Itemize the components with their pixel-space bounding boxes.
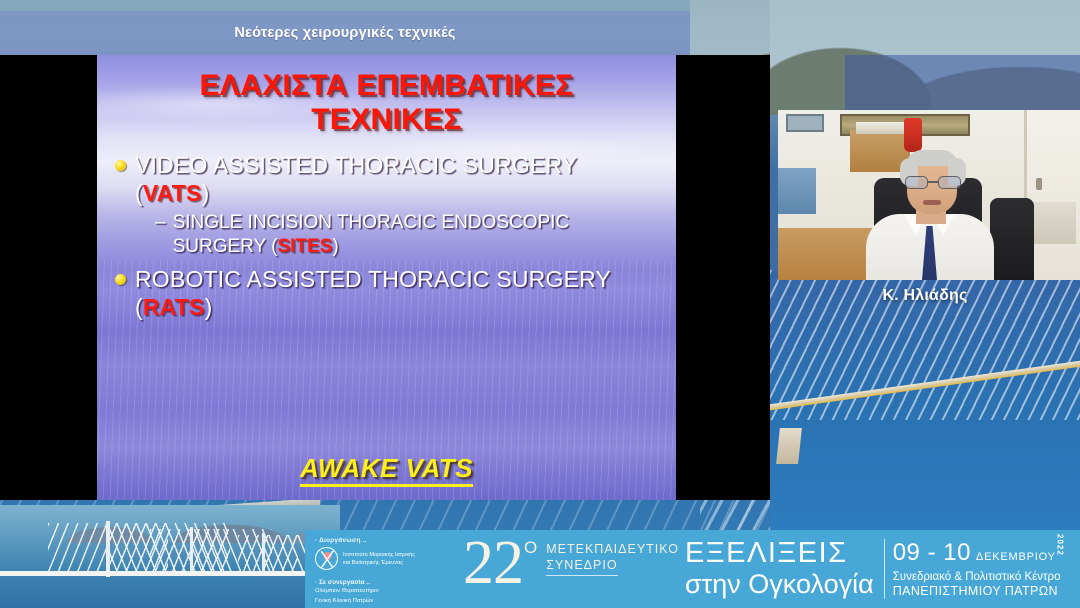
office-desk-front xyxy=(778,228,873,280)
office-shelf xyxy=(1028,202,1076,244)
bullet-acronym: VATS xyxy=(143,180,202,206)
sub-bullet-text-before: SINGLE INCISION THORACIC ENDOSCOPIC SURG… xyxy=(173,212,570,257)
collaboration-label: · Σε συνεργασία .. xyxy=(315,579,463,586)
organizer-name-line-2: και Βιοϊατρικής Έρευνας xyxy=(343,559,415,567)
office-chair-right xyxy=(990,198,1034,280)
bullet-dot-icon xyxy=(115,274,126,285)
webcam-feed[interactable] xyxy=(778,110,1080,280)
header-bar: Νεότερες χειρουργικές τεχνικές xyxy=(0,11,690,55)
institute-logo-icon xyxy=(315,547,338,570)
bullet-acronym: RATS xyxy=(143,294,205,320)
banner-date-venue: 09 - 10 ΔΕΚΕΜΒΡΙΟΥ 2022 Συνεδριακό & Πολ… xyxy=(893,530,1061,608)
bullet-text: VIDEO ASSISTED THORACIC SURGERY (VATS) xyxy=(135,151,635,207)
office-object-left xyxy=(778,168,816,214)
edition-number: 22 xyxy=(463,532,523,594)
video-overlay-bar xyxy=(845,55,1080,110)
door-knob xyxy=(1036,178,1042,190)
bridge-pylon-3 xyxy=(262,533,265,575)
bridge-pylon-2 xyxy=(190,527,193,575)
collaborator-line-1: Ολύμπιον Θεραπευτήριο xyxy=(315,587,463,596)
slide-title: ΕΛΑΧΙΣΤΑ ΕΠΕΜΒΑΤΙΚΕΣ ΤΕΧΝΙΚΕΣ xyxy=(113,69,660,137)
organizer-row: Ινστιτούτο Μοριακής Ιατρικής και Βιοϊατρ… xyxy=(315,547,463,570)
bullet-text: ROBOTIC ASSISTED THORACIC SURGERY (RATS) xyxy=(135,265,635,321)
wall-picture-small xyxy=(786,114,824,132)
venue-line-1: Συνεδριακό & Πολιτιστικό Κέντρο xyxy=(893,571,1061,583)
organizer-name-line-1: Ινστιτούτο Μοριακής Ιατρικής xyxy=(343,551,415,559)
slide-canvas: ΕΛΑΧΙΣΤΑ ΕΠΕΜΒΑΤΙΚΕΣ ΤΕΧΝΙΚΕΣ VIDEO ASSI… xyxy=(97,55,676,500)
desk-decoration xyxy=(904,118,922,152)
bullet-text-after: ) xyxy=(205,294,213,320)
page-title: Νεότερες χειρουργικές τεχνικές xyxy=(234,25,455,41)
bullet-item-rats: ROBOTIC ASSISTED THORACIC SURGERY (RATS) xyxy=(115,265,676,321)
organizer-name: Ινστιτούτο Μοριακής Ιατρικής και Βιοϊατρ… xyxy=(343,551,415,567)
eyeglasses-icon xyxy=(904,176,962,189)
banner-organizers: · Διοργάνωση .. Ινστιτούτο Μοριακής Ιατρ… xyxy=(305,530,463,608)
bridge-roadway xyxy=(0,571,340,576)
banner-divider xyxy=(884,539,885,599)
video-bridge-pier xyxy=(776,428,802,464)
lens-bridge xyxy=(928,181,938,183)
lens-left xyxy=(905,176,928,189)
slide-bullet-list: VIDEO ASSISTED THORACIC SURGERY (VATS) –… xyxy=(115,151,676,321)
congress-year: 2022 xyxy=(1056,534,1065,556)
slide-highlight-text: AWAKE VATS xyxy=(300,453,473,487)
banner-edition-number: 22 Ο xyxy=(463,530,537,608)
bridge-photo-strip xyxy=(0,505,340,608)
congress-dates: 09 - 10 xyxy=(893,539,971,567)
speaker-mouth xyxy=(923,200,941,205)
lens-right xyxy=(938,176,961,189)
bullet-item-vats: VIDEO ASSISTED THORACIC SURGERY (VATS) xyxy=(115,151,676,207)
congress-type-line-2: ΣΥΝΕΔΡΙΟ xyxy=(546,558,617,576)
sub-bullet-text-after: ) xyxy=(332,236,338,257)
speaker-name-label: Κ. Ηλιάδης xyxy=(770,287,1080,305)
slide-title-line-1: ΕΛΑΧΙΣΤΑ ΕΠΕΜΒΑΤΙΚΕΣ xyxy=(113,69,660,103)
organizer-label: · Διοργάνωση .. xyxy=(315,537,463,544)
dash-icon: – xyxy=(155,211,166,235)
slide-highlight: AWAKE VATS xyxy=(97,453,676,484)
bullet-dot-icon xyxy=(115,160,126,171)
ordinal-degree-icon: Ο xyxy=(524,538,537,558)
desk-books xyxy=(856,122,904,134)
congress-title-line-1: ΕΞΕΛΙΞΕΙΣ xyxy=(685,538,874,569)
congress-title-line-2: στην Ογκολογία xyxy=(685,569,874,599)
banner-congress-title: ΕΞΕΛΙΞΕΙΣ στην Ογκολογία xyxy=(685,530,874,608)
sub-bullet-acronym: SITES xyxy=(277,236,332,257)
congress-type-line-1: ΜΕΤΕΚΠΑΙΔΕΥΤΙΚΟ xyxy=(546,542,679,556)
collaborator-line-2: Γενική Κλινική Πατρών xyxy=(315,597,463,606)
bridge-pylon-1 xyxy=(106,521,110,577)
congress-month: ΔΕΚΕΜΒΡΙΟΥ xyxy=(976,551,1056,563)
date-row: 09 - 10 ΔΕΚΕΜΒΡΙΟΥ xyxy=(893,539,1061,567)
congress-banner: · Διοργάνωση .. Ινστιτούτο Μοριακής Ιατρ… xyxy=(305,530,1080,608)
bullet-text-after: ) xyxy=(202,180,210,206)
banner-subtitle: ΜΕΤΕΚΠΑΙΔΕΥΤΙΚΟ ΣΥΝΕΔΡΙΟ xyxy=(537,530,679,608)
sub-bullet-item-sites: – SINGLE INCISION THORACIC ENDOSCOPIC SU… xyxy=(155,211,676,259)
sub-bullet-text: SINGLE INCISION THORACIC ENDOSCOPIC SURG… xyxy=(173,211,638,259)
video-bridge-image xyxy=(770,270,1080,530)
venue-line-2: ΠΑΝΕΠΙΣΤΗΜΙΟΥ ΠΑΤΡΩΝ xyxy=(893,584,1061,598)
presentation-slide[interactable]: ΕΛΑΧΙΣΤΑ ΕΠΕΜΒΑΤΙΚΕΣ ΤΕΧΝΙΚΕΣ VIDEO ASSI… xyxy=(0,55,770,500)
slide-title-line-2: ΤΕΧΝΙΚΕΣ xyxy=(113,103,660,137)
